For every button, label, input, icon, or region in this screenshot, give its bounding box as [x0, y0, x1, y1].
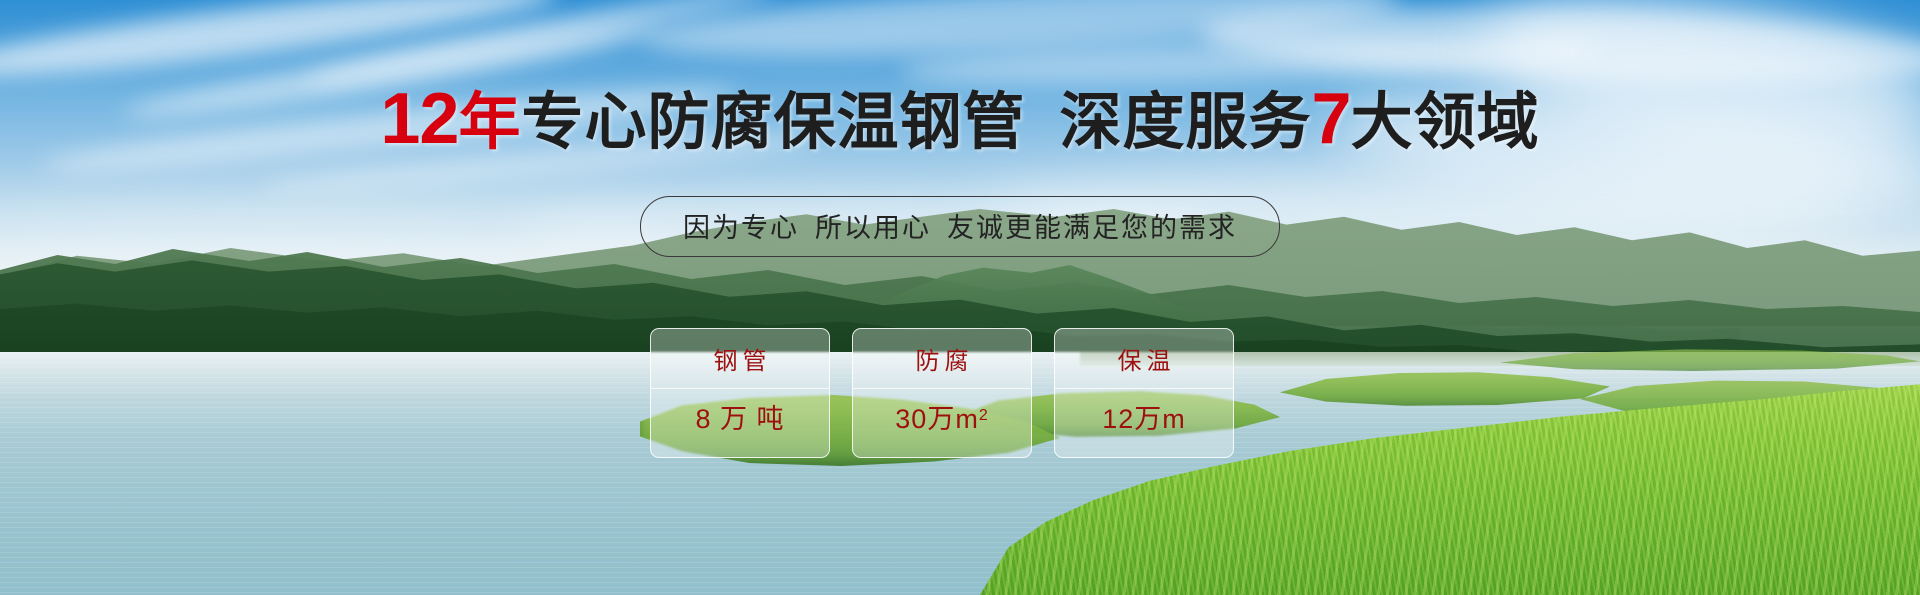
- banner-headline: 12年专心防腐保温钢管深度服务7大领域: [0, 84, 1920, 158]
- stat-card-value: 8 万 吨: [695, 389, 784, 457]
- hero-banner: 12年专心防腐保温钢管深度服务7大领域 因为专心所以用心友诚更能满足您的需求 钢…: [0, 0, 1920, 595]
- cloud-wisp-icon: [900, 28, 1601, 92]
- headline-highlight-number: 7: [1312, 79, 1351, 159]
- headline-years-number: 12: [380, 79, 458, 159]
- headline-part-2: 深度服务: [1060, 88, 1312, 157]
- stat-card-group: 钢管 8 万 吨 防腐 30万m2 保温 12万m: [650, 328, 1234, 458]
- cloud-wisp-icon: [0, 0, 560, 92]
- banner-subtitle-pill: 因为专心所以用心友诚更能满足您的需求: [640, 196, 1280, 257]
- headline-part-1: 专心防腐保温钢管: [522, 88, 1026, 157]
- stat-card-value-text: 8 万 吨: [695, 397, 784, 436]
- stat-card-value-text: 30万m: [895, 397, 979, 436]
- stat-card-label: 保温: [1055, 329, 1233, 389]
- stat-card-value-text: 12万m: [1102, 397, 1186, 436]
- subtitle-segment-2: 所以用心: [815, 213, 931, 243]
- stat-card-steel-pipe[interactable]: 钢管 8 万 吨: [650, 328, 830, 458]
- cloud-wisp-icon: [302, 0, 778, 94]
- headline-years-unit: 年: [458, 88, 521, 157]
- stat-card-label: 防腐: [853, 329, 1031, 389]
- stat-card-value-superscript: 2: [979, 407, 989, 425]
- stat-card-value: 12万m: [1102, 389, 1186, 457]
- stat-card-insulation[interactable]: 保温 12万m: [1054, 328, 1234, 458]
- stat-card-anticorrosion[interactable]: 防腐 30万m2: [852, 328, 1032, 458]
- stat-card-value: 30万m2: [895, 389, 988, 457]
- cloud-wisp-icon: [1199, 0, 1920, 95]
- subtitle-segment-3: 友诚更能满足您的需求: [947, 213, 1237, 243]
- headline-part-3: 大领域: [1351, 88, 1540, 157]
- subtitle-segment-1: 因为专心: [683, 213, 799, 243]
- stat-card-label: 钢管: [651, 329, 829, 389]
- cloud-wisp-icon: [639, 0, 1401, 70]
